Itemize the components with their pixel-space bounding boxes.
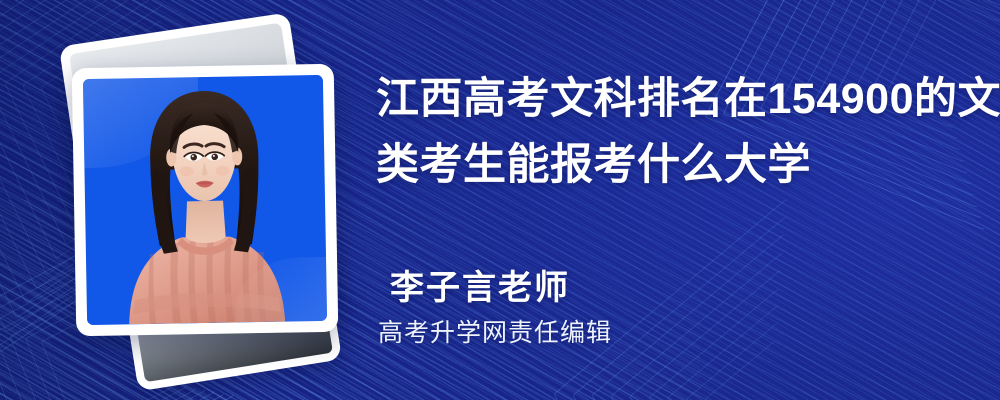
page-title: 江西高考文科排名在154900的文科 类考生能报考什么大学 (376, 66, 956, 198)
page-title-line-2: 类考生能报考什么大学 (376, 132, 956, 198)
photo-card-stack (52, 24, 352, 354)
article-banner: 江西高考文科排名在154900的文科 类考生能报考什么大学 李子言老师 高考升学… (0, 0, 1000, 400)
author-role: 高考升学网责任编辑 (378, 318, 612, 348)
author-name: 李子言老师 (390, 268, 612, 308)
photo-card-front (72, 64, 339, 337)
portrait-photo (83, 75, 327, 325)
text-column: 江西高考文科排名在154900的文科 类考生能报考什么大学 李子言老师 高考升学… (376, 0, 986, 400)
page-title-line-1: 江西高考文科排名在154900的文科 (376, 66, 956, 132)
byline: 李子言老师 高考升学网责任编辑 (390, 268, 612, 348)
